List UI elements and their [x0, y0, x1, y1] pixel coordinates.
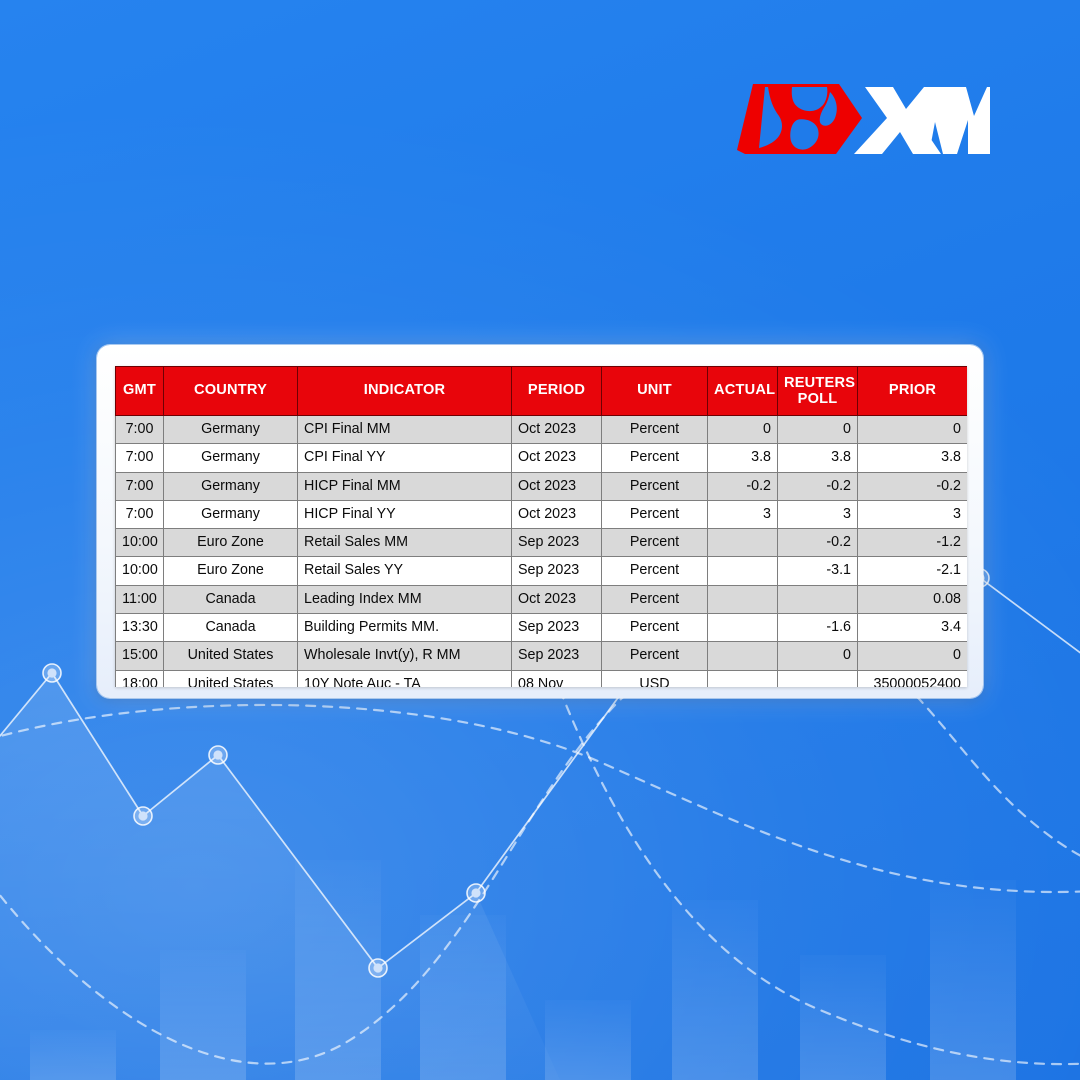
cell-gmt: 18:00	[116, 670, 164, 687]
cell-reuters-poll: 3.8	[778, 444, 858, 472]
cell-actual: 0	[708, 416, 778, 444]
col-header-prior[interactable]: PRIOR	[858, 367, 968, 416]
cell-unit: Percent	[602, 614, 708, 642]
cell-actual	[708, 614, 778, 642]
cell-gmt: 7:00	[116, 416, 164, 444]
cell-actual: 3	[708, 500, 778, 528]
table-row[interactable]: 18:00United States10Y Note Auc - TA08 No…	[116, 670, 968, 687]
cell-reuters-poll	[778, 585, 858, 613]
col-header-country[interactable]: COUNTRY	[164, 367, 298, 416]
table-row[interactable]: 7:00GermanyHICP Final YYOct 2023Percent3…	[116, 500, 968, 528]
cell-period: Sep 2023	[512, 529, 602, 557]
cell-actual	[708, 670, 778, 687]
cell-reuters-poll: 0	[778, 642, 858, 670]
table-header-row: GMT COUNTRY INDICATOR PERIOD UNIT ACTUAL…	[116, 367, 968, 416]
table-scroll-region: GMT COUNTRY INDICATOR PERIOD UNIT ACTUAL…	[115, 366, 967, 687]
col-header-indicator[interactable]: INDICATOR	[298, 367, 512, 416]
col-header-reuters-line2: POLL	[798, 391, 838, 407]
xm-logo-svg	[735, 78, 990, 160]
col-header-actual[interactable]: ACTUAL	[708, 367, 778, 416]
cell-indicator: CPI Final YY	[298, 444, 512, 472]
cell-unit: Percent	[602, 585, 708, 613]
table-row[interactable]: 7:00GermanyHICP Final MMOct 2023Percent-…	[116, 472, 968, 500]
cell-unit: Percent	[602, 642, 708, 670]
cell-gmt: 11:00	[116, 585, 164, 613]
cell-country: United States	[164, 670, 298, 687]
cell-indicator: Building Permits MM.	[298, 614, 512, 642]
table-row[interactable]: 15:00United StatesWholesale Invt(y), R M…	[116, 642, 968, 670]
cell-period: Sep 2023	[512, 614, 602, 642]
cell-period: Oct 2023	[512, 585, 602, 613]
cell-period: Sep 2023	[512, 557, 602, 585]
table-row[interactable]: 10:00Euro ZoneRetail Sales MMSep 2023Per…	[116, 529, 968, 557]
cell-period: Oct 2023	[512, 416, 602, 444]
cell-unit: USD	[602, 670, 708, 687]
col-header-reuters-poll[interactable]: REUTERS POLL	[778, 367, 858, 416]
cell-indicator: HICP Final YY	[298, 500, 512, 528]
cell-gmt: 7:00	[116, 472, 164, 500]
cell-prior: 3.4	[858, 614, 968, 642]
cell-reuters-poll: 3	[778, 500, 858, 528]
cell-country: Euro Zone	[164, 557, 298, 585]
col-header-period[interactable]: PERIOD	[512, 367, 602, 416]
cell-prior: 0.08	[858, 585, 968, 613]
cell-period: Oct 2023	[512, 444, 602, 472]
cell-period: Sep 2023	[512, 642, 602, 670]
cell-gmt: 10:00	[116, 557, 164, 585]
cell-actual: 3.8	[708, 444, 778, 472]
table-row[interactable]: 7:00GermanyCPI Final YYOct 2023Percent3.…	[116, 444, 968, 472]
col-header-gmt[interactable]: GMT	[116, 367, 164, 416]
cell-gmt: 7:00	[116, 500, 164, 528]
table-row[interactable]: 10:00Euro ZoneRetail Sales YYSep 2023Per…	[116, 557, 968, 585]
table-row[interactable]: 11:00CanadaLeading Index MMOct 2023Perce…	[116, 585, 968, 613]
cell-actual	[708, 529, 778, 557]
cell-unit: Percent	[602, 557, 708, 585]
cell-actual	[708, 585, 778, 613]
cell-country: Canada	[164, 585, 298, 613]
cell-reuters-poll: -0.2	[778, 472, 858, 500]
cell-unit: Percent	[602, 416, 708, 444]
cell-prior: -0.2	[858, 472, 968, 500]
cell-unit: Percent	[602, 529, 708, 557]
cell-prior: 3	[858, 500, 968, 528]
cell-prior: 35000052400	[858, 670, 968, 687]
cell-country: United States	[164, 642, 298, 670]
cell-actual	[708, 642, 778, 670]
background-area-fill	[0, 673, 560, 1080]
cell-unit: Percent	[602, 472, 708, 500]
cell-reuters-poll	[778, 670, 858, 687]
cell-period: Oct 2023	[512, 500, 602, 528]
cell-prior: -2.1	[858, 557, 968, 585]
cell-period: Oct 2023	[512, 472, 602, 500]
cell-actual	[708, 557, 778, 585]
table-body: 7:00GermanyCPI Final MMOct 2023Percent00…	[116, 416, 968, 688]
poster-canvas: GMT COUNTRY INDICATOR PERIOD UNIT ACTUAL…	[0, 0, 1080, 1080]
cell-indicator: Retail Sales MM	[298, 529, 512, 557]
cell-indicator: HICP Final MM	[298, 472, 512, 500]
cell-reuters-poll: 0	[778, 416, 858, 444]
bull-pentagon-icon	[737, 84, 862, 154]
cell-reuters-poll: -3.1	[778, 557, 858, 585]
cell-prior: 0	[858, 642, 968, 670]
col-header-unit[interactable]: UNIT	[602, 367, 708, 416]
table-row[interactable]: 13:30CanadaBuilding Permits MM.Sep 2023P…	[116, 614, 968, 642]
cell-indicator: Retail Sales YY	[298, 557, 512, 585]
cell-gmt: 10:00	[116, 529, 164, 557]
cell-reuters-poll: -0.2	[778, 529, 858, 557]
cell-period: 08 Nov	[512, 670, 602, 687]
cell-country: Germany	[164, 444, 298, 472]
xm-logo	[735, 78, 990, 160]
col-header-reuters-line1: REUTERS	[784, 375, 855, 391]
cell-country: Euro Zone	[164, 529, 298, 557]
cell-indicator: Leading Index MM	[298, 585, 512, 613]
cell-gmt: 15:00	[116, 642, 164, 670]
cell-country: Germany	[164, 416, 298, 444]
cell-reuters-poll: -1.6	[778, 614, 858, 642]
table-row[interactable]: 7:00GermanyCPI Final MMOct 2023Percent00…	[116, 416, 968, 444]
cell-country: Germany	[164, 472, 298, 500]
cell-gmt: 7:00	[116, 444, 164, 472]
cell-actual: -0.2	[708, 472, 778, 500]
cell-unit: Percent	[602, 444, 708, 472]
cell-prior: 3.8	[858, 444, 968, 472]
cell-indicator: Wholesale Invt(y), R MM	[298, 642, 512, 670]
cell-country: Germany	[164, 500, 298, 528]
cell-unit: Percent	[602, 500, 708, 528]
cell-gmt: 13:30	[116, 614, 164, 642]
cell-country: Canada	[164, 614, 298, 642]
cell-indicator: CPI Final MM	[298, 416, 512, 444]
xm-wordmark	[854, 87, 990, 154]
cell-prior: -1.2	[858, 529, 968, 557]
cell-indicator: 10Y Note Auc - TA	[298, 670, 512, 687]
economic-calendar-card: GMT COUNTRY INDICATOR PERIOD UNIT ACTUAL…	[97, 345, 983, 698]
economic-calendar-table: GMT COUNTRY INDICATOR PERIOD UNIT ACTUAL…	[115, 366, 967, 687]
cell-prior: 0	[858, 416, 968, 444]
